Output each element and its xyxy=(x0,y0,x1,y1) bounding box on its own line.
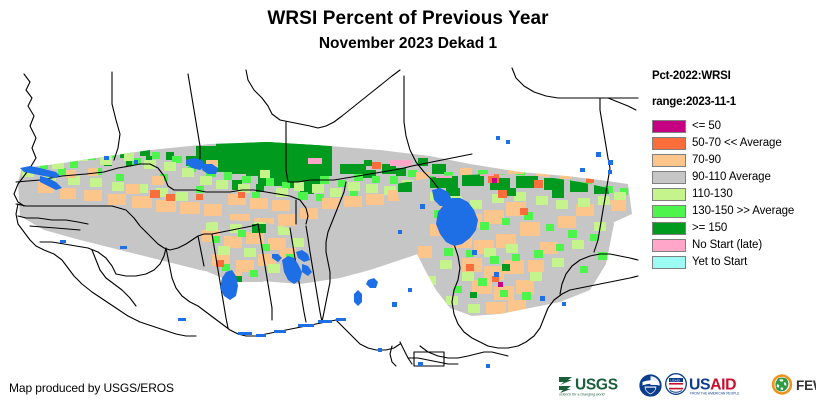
legend-row[interactable]: Yet to Start xyxy=(652,254,816,271)
svg-text:USAID: USAID xyxy=(670,378,680,382)
legend-range: range:2023-11-1 xyxy=(652,96,816,109)
legend-swatch-90-110 xyxy=(652,171,686,184)
legend-label: <= 50 xyxy=(692,120,721,133)
legend-row[interactable]: 130-150 >> Average xyxy=(652,203,816,220)
svg-text:FROM THE AMERICAN PEOPLE: FROM THE AMERICAN PEOPLE xyxy=(690,392,740,396)
map-credit: Map produced by USGS/EROS xyxy=(9,381,174,395)
legend-swatch-110-130 xyxy=(652,188,686,201)
legend-label: 130-150 >> Average xyxy=(692,205,794,218)
legend-swatch-yet-to-start xyxy=(652,256,686,269)
legend-panel: Pct-2022:WRSI range:2023-11-1 <= 50 50-7… xyxy=(652,70,816,271)
legend-row[interactable]: 90-110 Average xyxy=(652,169,816,186)
legend-row[interactable]: >= 150 xyxy=(652,220,816,237)
agency-logos: USGS science for a changing world USAID … xyxy=(558,371,810,399)
legend-swatch-lte-50 xyxy=(652,120,686,133)
wrsi-raster-nigeria xyxy=(390,164,630,324)
legend-label: Yet to Start xyxy=(692,256,747,269)
legend-label: 70-90 xyxy=(692,154,721,167)
legend-label: >= 150 xyxy=(692,222,727,235)
title-block: WRSI Percent of Previous Year November 2… xyxy=(0,0,816,53)
legend-row[interactable]: 110-130 xyxy=(652,186,816,203)
legend-row[interactable]: 50-70 << Average xyxy=(652,135,816,152)
legend-label: 90-110 Average xyxy=(692,171,771,184)
legend-swatch-70-90 xyxy=(652,154,686,167)
legend-title: Pct-2022:WRSI xyxy=(652,70,816,83)
page-title: WRSI Percent of Previous Year xyxy=(0,8,816,30)
usaid-logo[interactable]: USAID USAID FROM THE AMERICAN PEOPLE xyxy=(664,373,768,397)
west-africa-wrsi-map[interactable] xyxy=(0,64,640,369)
legend-swatch-130-150 xyxy=(652,205,686,218)
svg-text:science for a changing world: science for a changing world xyxy=(559,393,606,397)
legend-swatch-50-70 xyxy=(652,137,686,150)
legend-swatch-gte-150 xyxy=(652,222,686,235)
map-canvas[interactable] xyxy=(0,64,640,369)
fews-net-logo-graphic: FEWS NET xyxy=(771,373,816,397)
legend-row[interactable]: No Start (late) xyxy=(652,237,816,254)
usgs-logo[interactable]: USGS science for a changing world xyxy=(558,373,636,397)
fews-net-logo[interactable]: FEWS NET xyxy=(771,373,816,397)
legend-row[interactable]: 70-90 xyxy=(652,152,816,169)
noaa-logo[interactable] xyxy=(639,374,662,397)
legend-swatch-no-start xyxy=(652,239,686,252)
page-subtitle: November 2023 Dekad 1 xyxy=(0,34,816,53)
legend-items: <= 50 50-70 << Average 70-90 90-110 Aver… xyxy=(652,118,816,271)
legend-label: No Start (late) xyxy=(692,239,762,252)
noaa-logo-graphic xyxy=(639,374,662,397)
usaid-logo-graphic: USAID USAID FROM THE AMERICAN PEOPLE xyxy=(664,373,768,397)
legend-row[interactable]: <= 50 xyxy=(652,118,816,135)
svg-text:FEWS NET: FEWS NET xyxy=(796,378,816,393)
legend-label: 110-130 xyxy=(692,188,733,201)
legend-label: 50-70 << Average xyxy=(692,137,782,150)
svg-text:USGS: USGS xyxy=(575,377,618,394)
usgs-logo-graphic: USGS science for a changing world xyxy=(558,373,636,397)
